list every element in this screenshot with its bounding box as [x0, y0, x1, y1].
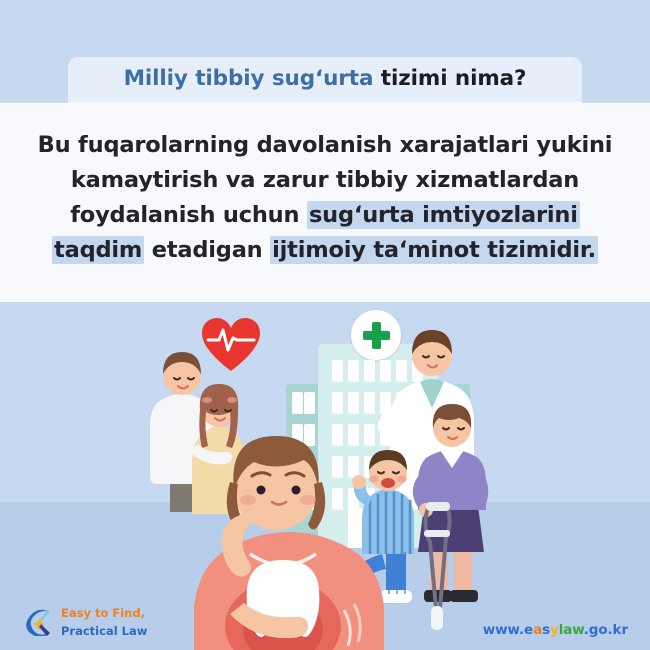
body-segment: Bu fuqarolarning davolanish xarajatlari … [38, 132, 613, 158]
body-segment-highlighted: ijtimoiy ta‘minot tizimidir. [270, 236, 598, 264]
website-url[interactable]: www.easylaw.go.kr [483, 622, 628, 638]
infographic-card: Milliy tibbiy sug‘urta tizimi nima? Bu f… [0, 0, 650, 650]
hospital-window [348, 360, 359, 382]
body-line-2: kamaytirish va zarur tibbiy xizmatlardan [0, 163, 650, 198]
title-banner: Milliy tibbiy sug‘urta tizimi nima? [68, 57, 582, 103]
hospital-window [332, 360, 343, 382]
illustration [0, 302, 650, 650]
body-paragraph: Bu fuqarolarning davolanish xarajatlari … [0, 128, 650, 268]
hospital-window [292, 392, 303, 414]
logo-line-1: Easy to Find, [61, 606, 145, 620]
body-line-3: foydalanish uchun sug‘urta imtiyozlarini [0, 198, 650, 233]
url-part: s [542, 622, 550, 638]
easylaw-logo-text: Easy to Find, Practical Law [61, 603, 147, 640]
title-main-text: tizimi nima? [373, 66, 526, 91]
hospital-window [304, 392, 315, 414]
url-part: e [524, 622, 533, 638]
url-part: y [550, 622, 559, 638]
woman-toothache [168, 430, 398, 650]
url-part: .go.kr [584, 622, 628, 638]
hospital-window [332, 392, 343, 414]
url-part: www. [483, 622, 524, 638]
body-segment: etadigan [144, 237, 270, 263]
easylaw-logo[interactable]: Easy to Find, Practical Law [24, 600, 154, 642]
easylaw-logo-icon [24, 606, 54, 636]
url-part: law [559, 622, 584, 638]
page-title: Milliy tibbiy sug‘urta tizimi nima? [124, 68, 527, 92]
body-line-1: Bu fuqarolarning davolanish xarajatlari … [0, 128, 650, 163]
title-accent-text: Milliy tibbiy sug‘urta [124, 66, 374, 91]
url-part: a [533, 622, 542, 638]
body-segment-highlighted: taqdim [52, 236, 144, 264]
hospital-window [364, 360, 375, 382]
hospital-window [364, 392, 375, 414]
logo-line-2: Practical Law [61, 624, 147, 638]
body-segment-highlighted: sug‘urta imtiyozlarini [307, 201, 580, 229]
body-segment: foydalanish uchun [70, 202, 307, 228]
hospital-window [348, 392, 359, 414]
body-line-4: taqdim etadigan ijtimoiy ta‘minot tizimi… [0, 233, 650, 268]
body-segment: kamaytirish va zarur tibbiy xizmatlardan [71, 167, 579, 193]
